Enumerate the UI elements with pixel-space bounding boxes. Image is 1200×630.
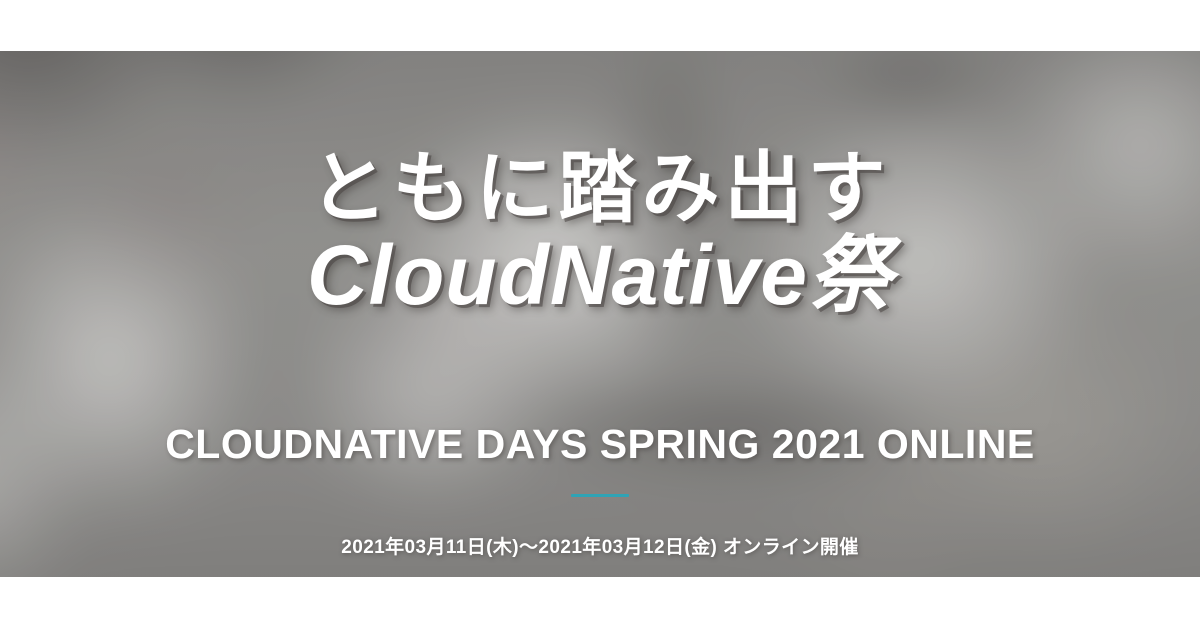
letterbox-bottom-bar [0,577,1200,630]
event-subtitle: CLOUDNATIVE DAYS SPRING 2021 ONLINE [0,421,1200,468]
headline-line-2: CloudNative祭 [0,233,1200,317]
accent-divider [571,494,629,497]
letterbox-top-bar [0,0,1200,51]
headline-line-1: ともに踏み出す [0,149,1200,227]
hero-banner: ともに踏み出す CloudNative祭 CLOUDNATIVE DAYS SP… [0,0,1200,630]
hero-content: ともに踏み出す CloudNative祭 CLOUDNATIVE DAYS SP… [0,51,1200,577]
hero-image-band: ともに踏み出す CloudNative祭 CLOUDNATIVE DAYS SP… [0,51,1200,577]
event-date-and-format: 2021年03月11日(木)〜2021年03月12日(金) オンライン開催 [0,532,1200,559]
